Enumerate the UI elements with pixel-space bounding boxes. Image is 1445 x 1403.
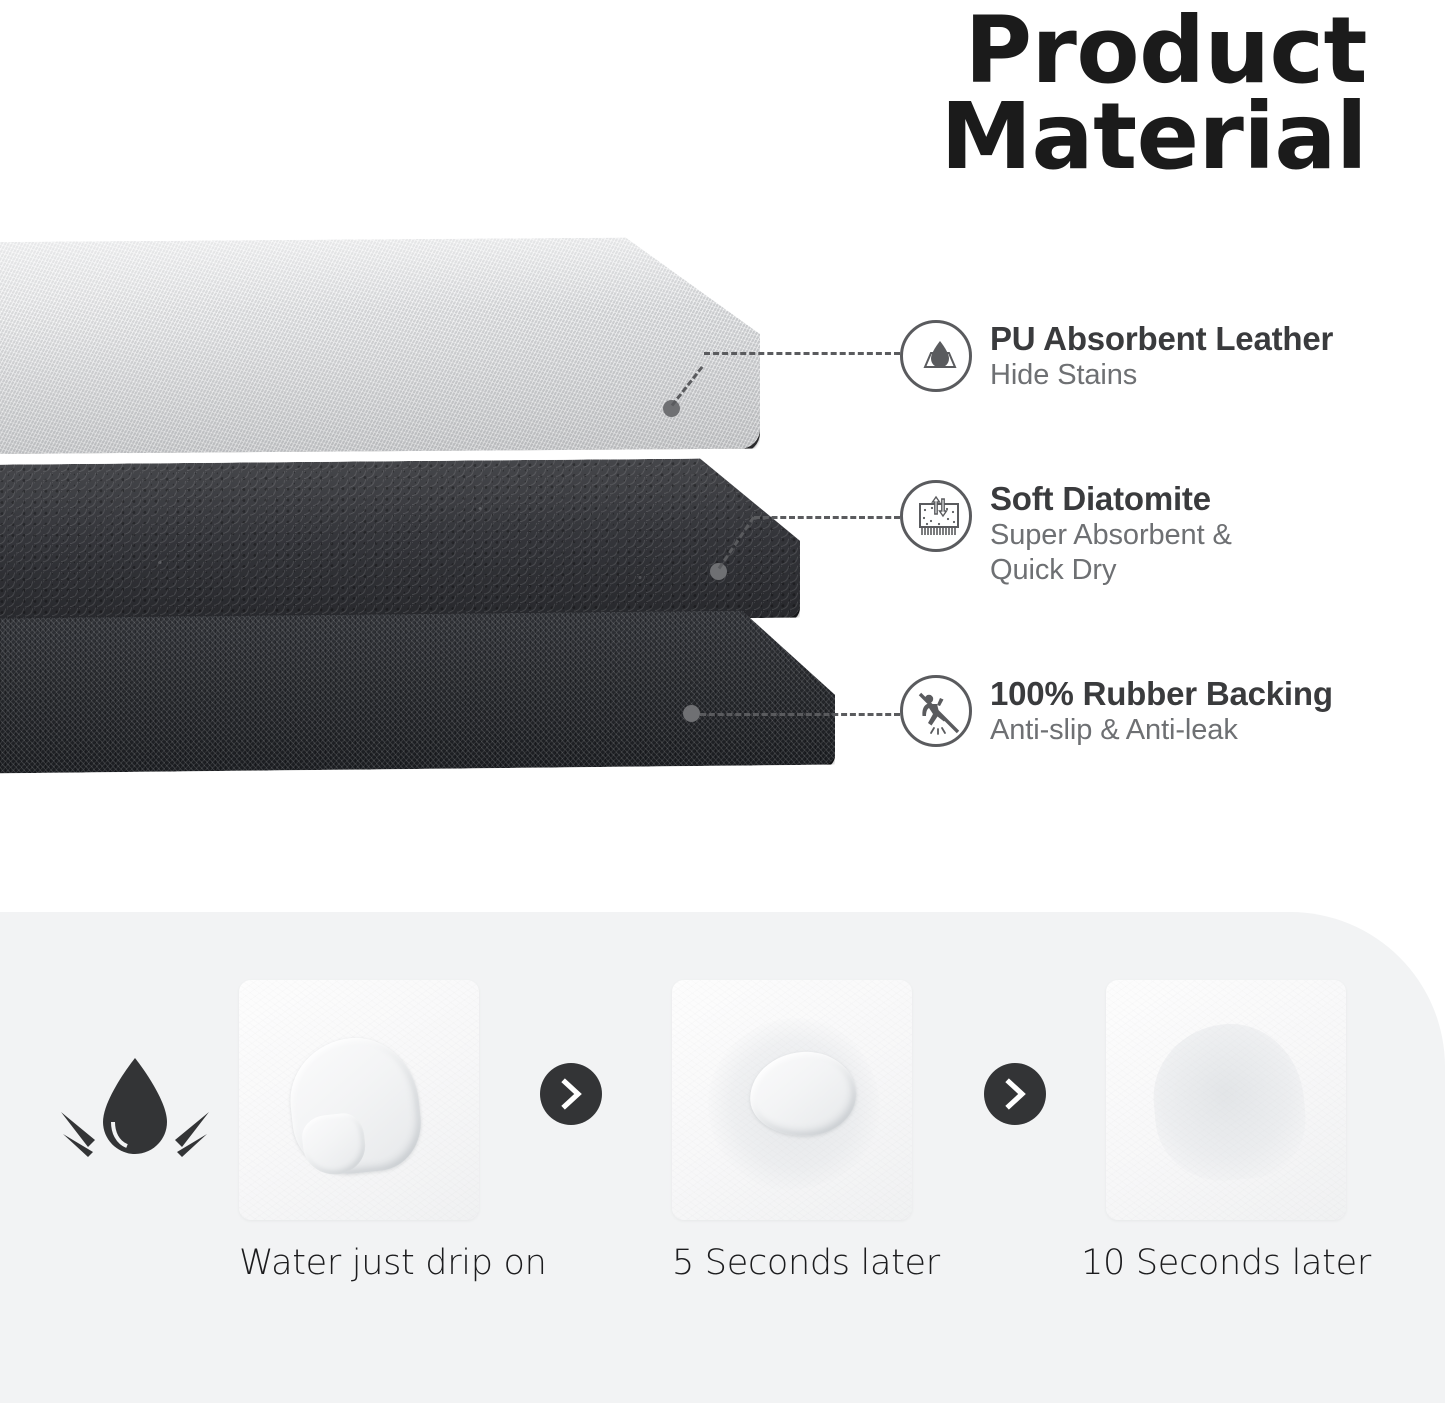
demo-step-1: Water just drip on <box>239 980 479 1284</box>
feature-text-diatomite: Soft Diatomite Super Absorbent & Quick D… <box>990 478 1232 588</box>
demo-caption-3: 10 Seconds later <box>1076 1242 1376 1284</box>
water-splash-drop-icon <box>55 1052 215 1172</box>
feature-pu-absorbent-leather: PU Absorbent Leather Hide Stains <box>900 318 1333 393</box>
demo-photo-5-seconds <box>672 980 912 1220</box>
no-slip-icon <box>900 675 972 747</box>
feature-title-diatomite: Soft Diatomite <box>990 480 1232 518</box>
mat-layer-stack <box>0 240 820 770</box>
feature-title-pu: PU Absorbent Leather <box>990 320 1333 358</box>
page-title: Product Material <box>667 0 1367 180</box>
feature-subtitle-diatomite-line2: Quick Dry <box>990 553 1232 588</box>
rubber-backing-layer <box>0 610 835 776</box>
demo-photo-water-drip <box>239 980 479 1220</box>
page-title-line-1: Product <box>667 0 1367 94</box>
pu-leather-layer <box>0 237 760 456</box>
demo-step-3: 10 Seconds later <box>1106 980 1376 1284</box>
demo-caption-2: 5 Seconds later <box>672 1242 912 1284</box>
water-puddle-shape <box>284 1032 425 1180</box>
diatomite-layer <box>0 458 800 627</box>
feature-text-pu: PU Absorbent Leather Hide Stains <box>990 318 1333 393</box>
product-material-infographic: Product Material <box>0 0 1445 1403</box>
feature-title-rubber: 100% Rubber Backing <box>990 675 1333 713</box>
chevron-right-icon-1 <box>540 1063 602 1125</box>
demo-step-2: 5 Seconds later <box>672 980 912 1284</box>
feature-rubber-backing: 100% Rubber Backing Anti-slip & Anti-lea… <box>900 673 1333 748</box>
chevron-right-icon-2 <box>984 1063 1046 1125</box>
demo-photo-10-seconds <box>1106 980 1346 1220</box>
feature-subtitle-pu: Hide Stains <box>990 358 1333 393</box>
page-title-line-2: Material <box>667 94 1367 180</box>
absorbent-pad-arrows-icon <box>900 480 972 552</box>
faint-damp-stain-shape <box>1147 1018 1310 1186</box>
feature-subtitle-rubber: Anti-slip & Anti-leak <box>990 713 1333 748</box>
feature-text-rubber: 100% Rubber Backing Anti-slip & Anti-lea… <box>990 673 1333 748</box>
feature-subtitle-diatomite-line1: Super Absorbent & <box>990 518 1232 553</box>
droplet-on-mat-icon <box>900 320 972 392</box>
demo-caption-1: Water just drip on <box>239 1242 479 1284</box>
feature-soft-diatomite: Soft Diatomite Super Absorbent & Quick D… <box>900 478 1232 588</box>
